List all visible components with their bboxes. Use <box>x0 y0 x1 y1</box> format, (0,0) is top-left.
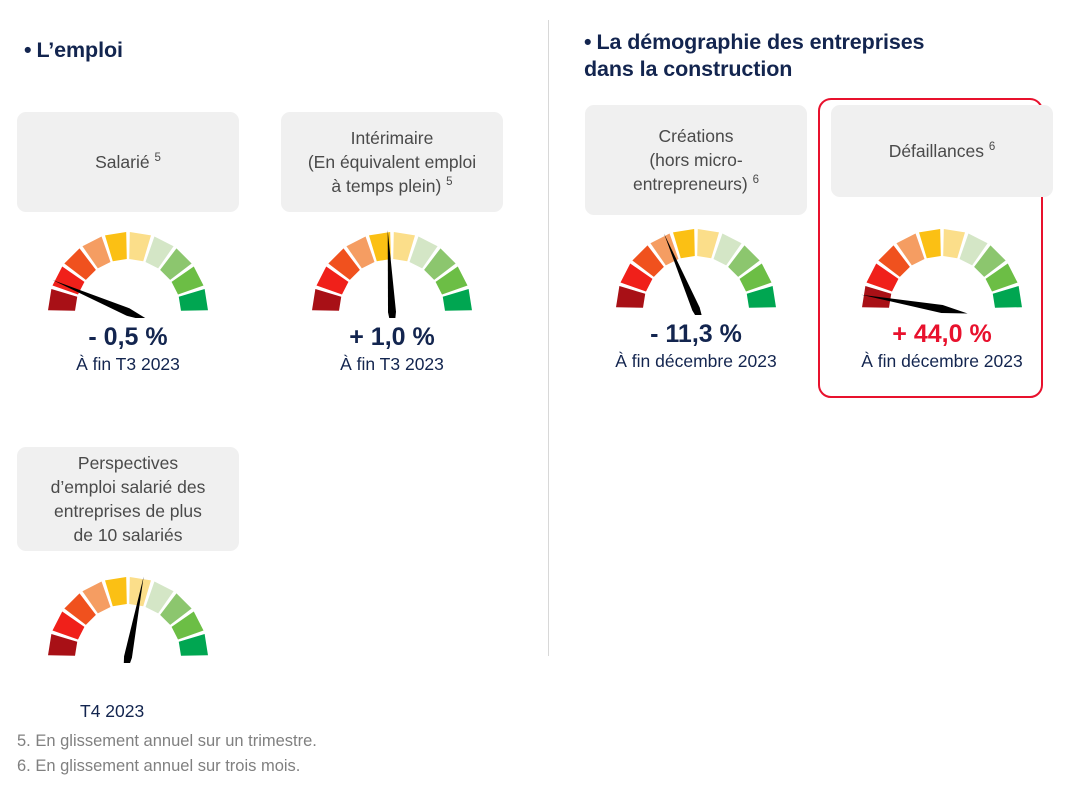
business-demography-panel: •La démographie des entreprises dans la … <box>548 0 1073 812</box>
bullet-glyph-icon: • <box>584 29 591 56</box>
gauge-interimaire <box>281 226 503 318</box>
metric-label-salarie: Salarié 5 <box>17 112 239 212</box>
employment-panel: •L’emploi Salarié 5 - 0,5 % À fin T3 202… <box>0 0 548 812</box>
heading-text: La démographie des entreprises dans la c… <box>584 30 924 81</box>
metric-caption-creations: À fin décembre 2023 <box>585 350 807 373</box>
metric-label-creations: Créations (hors micro- entrepreneurs) 6 <box>585 105 807 215</box>
gauge-defaillances <box>831 223 1053 315</box>
gauge-dial <box>42 571 214 663</box>
metric-label-perspectives: Perspectives d’emploi salarié des entrep… <box>17 447 239 551</box>
metric-value-interimaire: + 1,0 % <box>281 322 503 352</box>
metric-caption-salarie: À fin T3 2023 <box>17 353 239 376</box>
page-title-demography: •La démographie des entreprises dans la … <box>584 29 924 83</box>
footnote-6: 6. En glissement annuel sur trois mois. <box>17 754 317 779</box>
metric-label-text: Créations (hors micro- entrepreneurs) <box>633 126 753 194</box>
gauge-dial <box>42 226 214 318</box>
metric-caption-interimaire: À fin T3 2023 <box>281 353 503 376</box>
bullet-glyph-icon: • <box>24 37 31 64</box>
footnote-5: 5. En glissement annuel sur un trimestre… <box>17 729 317 754</box>
gauge-dial <box>856 223 1028 315</box>
metric-label-text: Perspectives d’emploi salarié des entrep… <box>51 453 206 545</box>
gauge-perspectives <box>17 571 239 663</box>
metric-value-salarie: - 0,5 % <box>17 322 239 352</box>
metric-card-interimaire: Intérimaire (En équivalent emploi à temp… <box>281 112 503 376</box>
metric-card-salarie: Salarié 5 - 0,5 % À fin T3 2023 <box>17 112 239 376</box>
metric-label-text: Défaillances <box>889 141 989 161</box>
gauge-salarie <box>17 226 239 318</box>
footnote-marker: 6 <box>989 141 995 153</box>
footnote-marker: 6 <box>753 174 759 186</box>
metric-card-defaillances: Défaillances 6 + 44,0 % À fin décembre 2… <box>831 105 1053 373</box>
gauge-dial <box>306 226 478 318</box>
metric-caption-perspectives: T4 2023 <box>80 700 144 723</box>
metric-caption-defaillances: À fin décembre 2023 <box>831 350 1053 373</box>
page-title-employment: •L’emploi <box>24 37 123 64</box>
gauge-creations <box>585 223 807 315</box>
heading-text: L’emploi <box>36 38 122 62</box>
metric-card-perspectives: Perspectives d’emploi salarié des entrep… <box>17 447 239 663</box>
metric-value-creations: - 11,3 % <box>585 319 807 349</box>
footnote-marker: 5 <box>446 176 452 188</box>
metric-label-interimaire: Intérimaire (En équivalent emploi à temp… <box>281 112 503 212</box>
footnote-marker: 5 <box>154 152 160 164</box>
metric-value-defaillances: + 44,0 % <box>831 319 1053 349</box>
metric-card-creations: Créations (hors micro- entrepreneurs) 6 … <box>585 105 807 373</box>
footnotes-block: 5. En glissement annuel sur un trimestre… <box>17 729 317 779</box>
metric-label-defaillances: Défaillances 6 <box>831 105 1053 197</box>
gauge-dial <box>610 223 782 315</box>
metric-label-text: Salarié <box>95 152 154 172</box>
